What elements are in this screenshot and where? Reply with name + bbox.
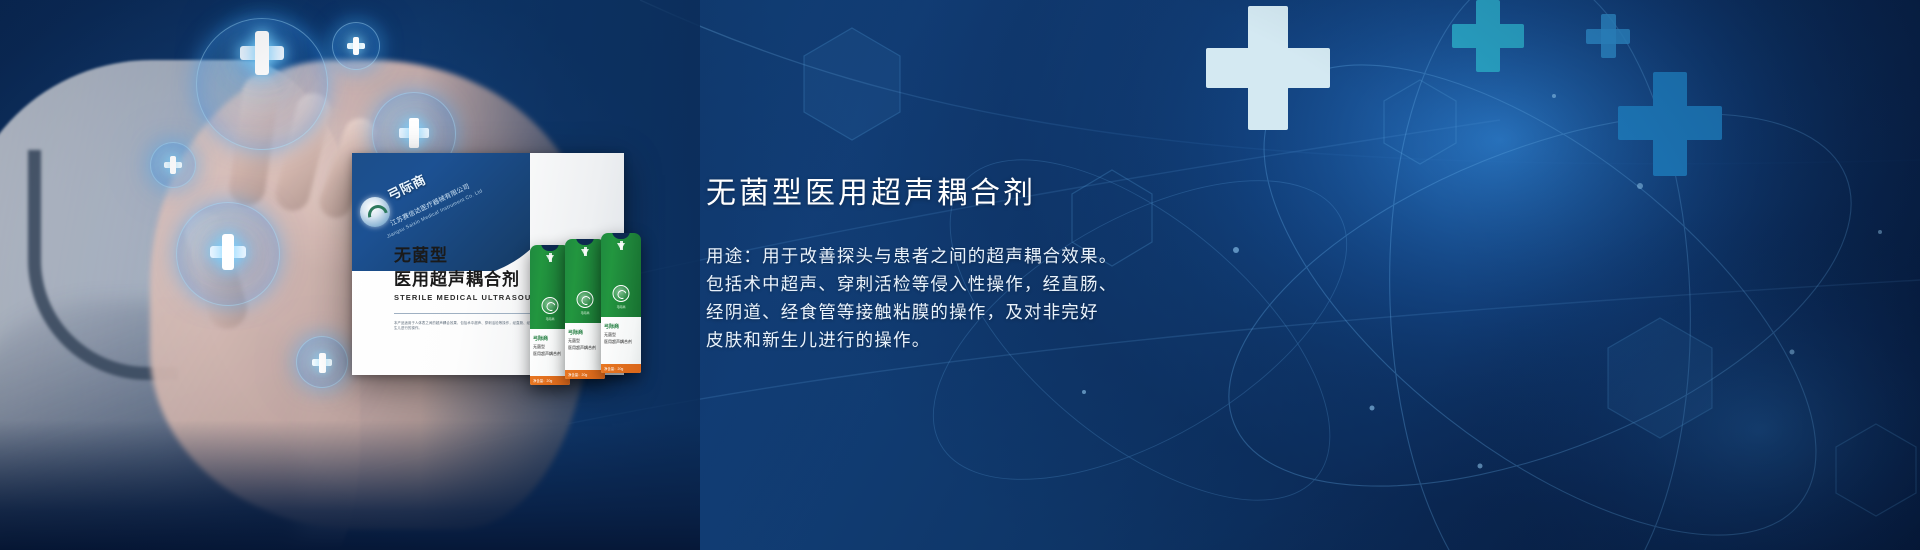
description-line: 包括术中超声、穿刺活检等侵入性操作，经直肠、 — [706, 270, 1406, 298]
sachet-brand-name: 弓际商 — [533, 335, 548, 342]
medical-cross-icon — [210, 246, 246, 258]
sachet-net-band: 净含量：20g — [601, 364, 641, 373]
product-sachet: 弓际商 弓际商 无菌型 医用超声耦合剂 净含量：20g — [601, 233, 641, 373]
sachet-logo-icon — [613, 285, 630, 302]
sachet-net-band: 净含量：20g — [530, 376, 570, 385]
description-block: 用途：用于改善探头与患者之间的超声耦合效果。 包括术中超声、穿刺活检等侵入性操作… — [706, 242, 1406, 354]
arrow-down-icon — [546, 255, 554, 262]
description-line: 经阴道、经食管等接触粘膜的操作，及对非完好 — [706, 298, 1406, 326]
sachet-line2: 医用超声耦合剂 — [533, 351, 561, 357]
product-hero-banner: 弓际商 江苏赛信达医疗器械有限公司 Jiangsu Saixin Medical… — [0, 0, 1920, 550]
description-line: 用途：用于改善探头与患者之间的超声耦合效果。 — [706, 242, 1406, 270]
arrow-down-icon — [617, 243, 625, 250]
sachet-net-band: 净含量：20g — [565, 370, 605, 379]
box-title-line1: 无菌型 — [394, 241, 448, 266]
sachet-line2: 医用超声耦合剂 — [604, 339, 632, 345]
sachet-brand-name: 弓际商 — [604, 323, 619, 330]
sachet-label: 弓际商 无菌型 医用超声耦合剂 净含量：20g — [601, 317, 641, 373]
sachet-logo-icon — [577, 291, 594, 308]
medical-cross-icon — [399, 128, 429, 138]
sachet-label: 弓际商 无菌型 医用超声耦合剂 净含量：20g — [565, 323, 605, 379]
product-package: 弓际商 江苏赛信达医疗器械有限公司 Jiangsu Saixin Medical… — [352, 153, 682, 403]
box-title-line2: 医用超声耦合剂 — [394, 265, 520, 290]
sachet-logo-icon — [542, 297, 559, 314]
sachet-brandmark: 弓际商 — [545, 317, 554, 321]
medical-cross-icon — [312, 359, 332, 366]
medical-cross-icon — [347, 43, 365, 49]
product-sachet: 弓际商 弓际商 无菌型 医用超声耦合剂 净含量：20g — [530, 245, 570, 385]
sachet-line1: 无菌型 — [604, 332, 616, 338]
photo-fade-bottom — [0, 420, 700, 550]
medical-cross-icon — [240, 46, 284, 60]
sachet-brandmark: 弓际商 — [616, 305, 625, 309]
sachet-net-weight: 净含量：20g — [568, 372, 587, 377]
sachet-brandmark: 弓际商 — [580, 311, 589, 315]
sachet-notch — [612, 233, 630, 239]
sachet-label: 弓际商 无菌型 医用超声耦合剂 净含量：20g — [530, 329, 570, 385]
sachet-net-weight: 净含量：20g — [533, 378, 552, 383]
medical-cross-icon — [164, 162, 182, 168]
sachet-line1: 无菌型 — [533, 344, 545, 350]
sachet-line1: 无菌型 — [568, 338, 580, 344]
sachet-brand-name: 弓际商 — [568, 329, 583, 336]
sachet-line2: 医用超声耦合剂 — [568, 345, 596, 351]
sachet-notch — [541, 245, 559, 251]
sachet-notch — [576, 239, 594, 245]
sachet-net-weight: 净含量：20g — [604, 366, 623, 371]
brand-logo-icon — [360, 197, 390, 227]
arrow-down-icon — [581, 249, 589, 256]
product-sachet: 弓际商 弓际商 无菌型 医用超声耦合剂 净含量：20g — [565, 239, 605, 379]
page-title: 无菌型医用超声耦合剂 — [706, 176, 1406, 212]
banner-copy: 无菌型医用超声耦合剂 用途：用于改善探头与患者之间的超声耦合效果。 包括术中超声… — [706, 176, 1406, 354]
description-line: 皮肤和新生儿进行的操作。 — [706, 326, 1406, 354]
